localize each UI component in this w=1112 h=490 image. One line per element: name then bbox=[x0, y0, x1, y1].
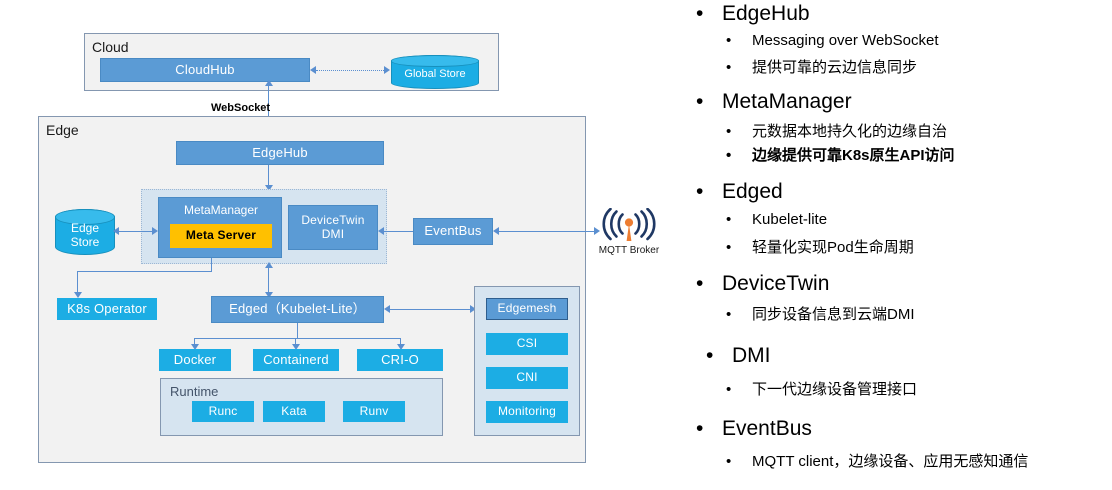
arrowhead-to-edged-left bbox=[384, 305, 390, 313]
note-group-title-devicetwin: •DeviceTwin bbox=[696, 272, 829, 296]
connector-metaserver-left bbox=[77, 271, 212, 272]
node-edge-store[interactable]: Edge Store bbox=[55, 209, 115, 255]
node-edgehub[interactable]: EdgeHub bbox=[176, 141, 384, 165]
bullet-dot: • bbox=[696, 90, 722, 114]
notes-column: •EdgeHub •Messaging over WebSocket •提供可靠… bbox=[690, 0, 1112, 490]
note-group-title-dmi: •DMI bbox=[706, 344, 771, 368]
bullet-dot: • bbox=[696, 180, 722, 204]
runtime-panel-label: Runtime bbox=[170, 385, 218, 398]
note-title-text: Edged bbox=[722, 180, 783, 203]
node-kata[interactable]: Kata bbox=[263, 401, 325, 422]
connector-eventbus-mqtt bbox=[499, 231, 594, 232]
note-group-title-edgehub: •EdgeHub bbox=[696, 2, 810, 26]
note-item-text: 下一代边缘设备管理接口 bbox=[752, 381, 917, 398]
bullet-dot: • bbox=[726, 59, 752, 76]
architecture-diagram: Cloud CloudHub Global Store WebSocket Ed… bbox=[0, 0, 690, 490]
mqtt-broker-icon bbox=[599, 208, 659, 244]
note-item-metamanager-1: •边缘提供可靠K8s原生API访问 bbox=[726, 144, 955, 165]
connector-edged-fanout-stem bbox=[297, 323, 298, 338]
note-title-text: DeviceTwin bbox=[722, 272, 829, 295]
node-containerd[interactable]: Containerd bbox=[253, 349, 339, 371]
note-group-title-eventbus: •EventBus bbox=[696, 417, 812, 441]
note-item-edged-0: •Kubelet-lite bbox=[726, 211, 827, 228]
node-edgemesh[interactable]: Edgemesh bbox=[486, 298, 568, 320]
note-title-text: MetaManager bbox=[722, 90, 852, 113]
node-devicetwin-dmi[interactable]: DeviceTwin DMI bbox=[288, 205, 378, 250]
node-crio[interactable]: CRI-O bbox=[357, 349, 443, 371]
bullet-dot: • bbox=[726, 306, 752, 323]
bullet-dot: • bbox=[706, 344, 732, 368]
arrowhead-to-devicetwin bbox=[378, 227, 384, 235]
note-item-text: Kubelet-lite bbox=[752, 211, 827, 228]
node-eventbus[interactable]: EventBus bbox=[413, 218, 493, 245]
cylinder-top-globalstore bbox=[391, 55, 479, 67]
arrowhead-to-edgestore bbox=[113, 227, 119, 235]
connector-edgestore-metamanager bbox=[119, 231, 152, 232]
note-item-text: Messaging over WebSocket bbox=[752, 32, 938, 49]
node-meta-server[interactable]: Meta Server bbox=[170, 224, 272, 248]
connector-edged-fanout-bar bbox=[194, 338, 400, 339]
note-item-eventbus-0: •MQTT client，边缘设备、应用无感知通信 bbox=[726, 450, 1028, 471]
bullet-dot: • bbox=[726, 381, 752, 398]
websocket-label: WebSocket bbox=[211, 102, 270, 114]
note-item-edgehub-0: •Messaging over WebSocket bbox=[726, 32, 938, 49]
note-item-edgehub-1: •提供可靠的云边信息同步 bbox=[726, 56, 917, 77]
node-cloudhub[interactable]: CloudHub bbox=[100, 58, 310, 82]
slide-canvas: Cloud CloudHub Global Store WebSocket Ed… bbox=[0, 0, 1112, 490]
note-item-edged-1: •轻量化实现Pod生命周期 bbox=[726, 236, 914, 257]
bullet-dot: • bbox=[696, 2, 722, 26]
note-group-title-metamanager: •MetaManager bbox=[696, 90, 852, 114]
connector-edged-sidemodules bbox=[390, 309, 476, 310]
note-item-dmi-0: •下一代边缘设备管理接口 bbox=[726, 378, 917, 399]
connector-cloudhub-globalstore bbox=[316, 70, 384, 71]
mqtt-broker[interactable]: MQTT Broker bbox=[596, 208, 662, 256]
node-k8s-operator[interactable]: K8s Operator bbox=[57, 298, 157, 320]
node-edged[interactable]: Edged（Kubelet-Lite） bbox=[211, 296, 384, 323]
note-item-text: 元数据本地持久化的边缘自治 bbox=[752, 123, 947, 140]
connector-metaserver-down bbox=[211, 258, 212, 271]
edge-label: Edge bbox=[46, 123, 79, 137]
note-group-title-edged: •Edged bbox=[696, 180, 783, 204]
note-item-text: MQTT client，边缘设备、应用无感知通信 bbox=[752, 453, 1028, 470]
cloud-label: Cloud bbox=[92, 40, 129, 54]
bullet-dot: • bbox=[726, 453, 752, 470]
node-monitoring[interactable]: Monitoring bbox=[486, 401, 568, 423]
bullet-dot: • bbox=[696, 272, 722, 296]
node-global-store[interactable]: Global Store bbox=[391, 55, 479, 89]
arrowhead-to-cloudhub bbox=[310, 66, 316, 74]
note-title-text: DMI bbox=[732, 344, 771, 367]
note-title-text: EventBus bbox=[722, 417, 812, 440]
note-title-text: EdgeHub bbox=[722, 2, 810, 25]
node-global-store-label: Global Store bbox=[404, 68, 465, 80]
node-docker[interactable]: Docker bbox=[159, 349, 231, 371]
mqtt-broker-label: MQTT Broker bbox=[596, 245, 662, 256]
arrowhead-websocket-up bbox=[265, 80, 273, 86]
connector-devicetwin-eventbus bbox=[384, 231, 414, 232]
arrowhead-to-metamanager bbox=[152, 227, 158, 235]
node-csi[interactable]: CSI bbox=[486, 333, 568, 355]
note-item-text: 同步设备信息到云端DMI bbox=[752, 306, 915, 323]
arrowhead-edged-up bbox=[265, 262, 273, 268]
bullet-dot: • bbox=[726, 239, 752, 256]
note-item-devicetwin-0: •同步设备信息到云端DMI bbox=[726, 303, 915, 324]
note-item-text: 提供可靠的云边信息同步 bbox=[752, 59, 917, 76]
node-runv[interactable]: Runv bbox=[343, 401, 405, 422]
bullet-dot: • bbox=[696, 417, 722, 441]
arrowhead-to-eventbus-2 bbox=[493, 227, 499, 235]
bullet-dot: • bbox=[726, 211, 752, 228]
node-runc[interactable]: Runc bbox=[192, 401, 254, 422]
node-metamanager[interactable]: MetaManager Meta Server bbox=[158, 197, 282, 258]
node-edge-store-label: Edge Store bbox=[71, 222, 100, 248]
note-item-text: 边缘提供可靠K8s原生API访问 bbox=[752, 147, 955, 164]
note-item-text: 轻量化实现Pod生命周期 bbox=[752, 239, 914, 256]
bullet-dot: • bbox=[726, 32, 752, 49]
connector-to-k8soperator bbox=[77, 271, 78, 294]
node-metamanager-label: MetaManager bbox=[159, 203, 283, 217]
arrowhead-to-globalstore bbox=[384, 66, 390, 74]
bullet-dot: • bbox=[726, 147, 752, 164]
bullet-dot: • bbox=[726, 123, 752, 140]
node-cni[interactable]: CNI bbox=[486, 367, 568, 389]
note-item-metamanager-0: •元数据本地持久化的边缘自治 bbox=[726, 120, 947, 141]
